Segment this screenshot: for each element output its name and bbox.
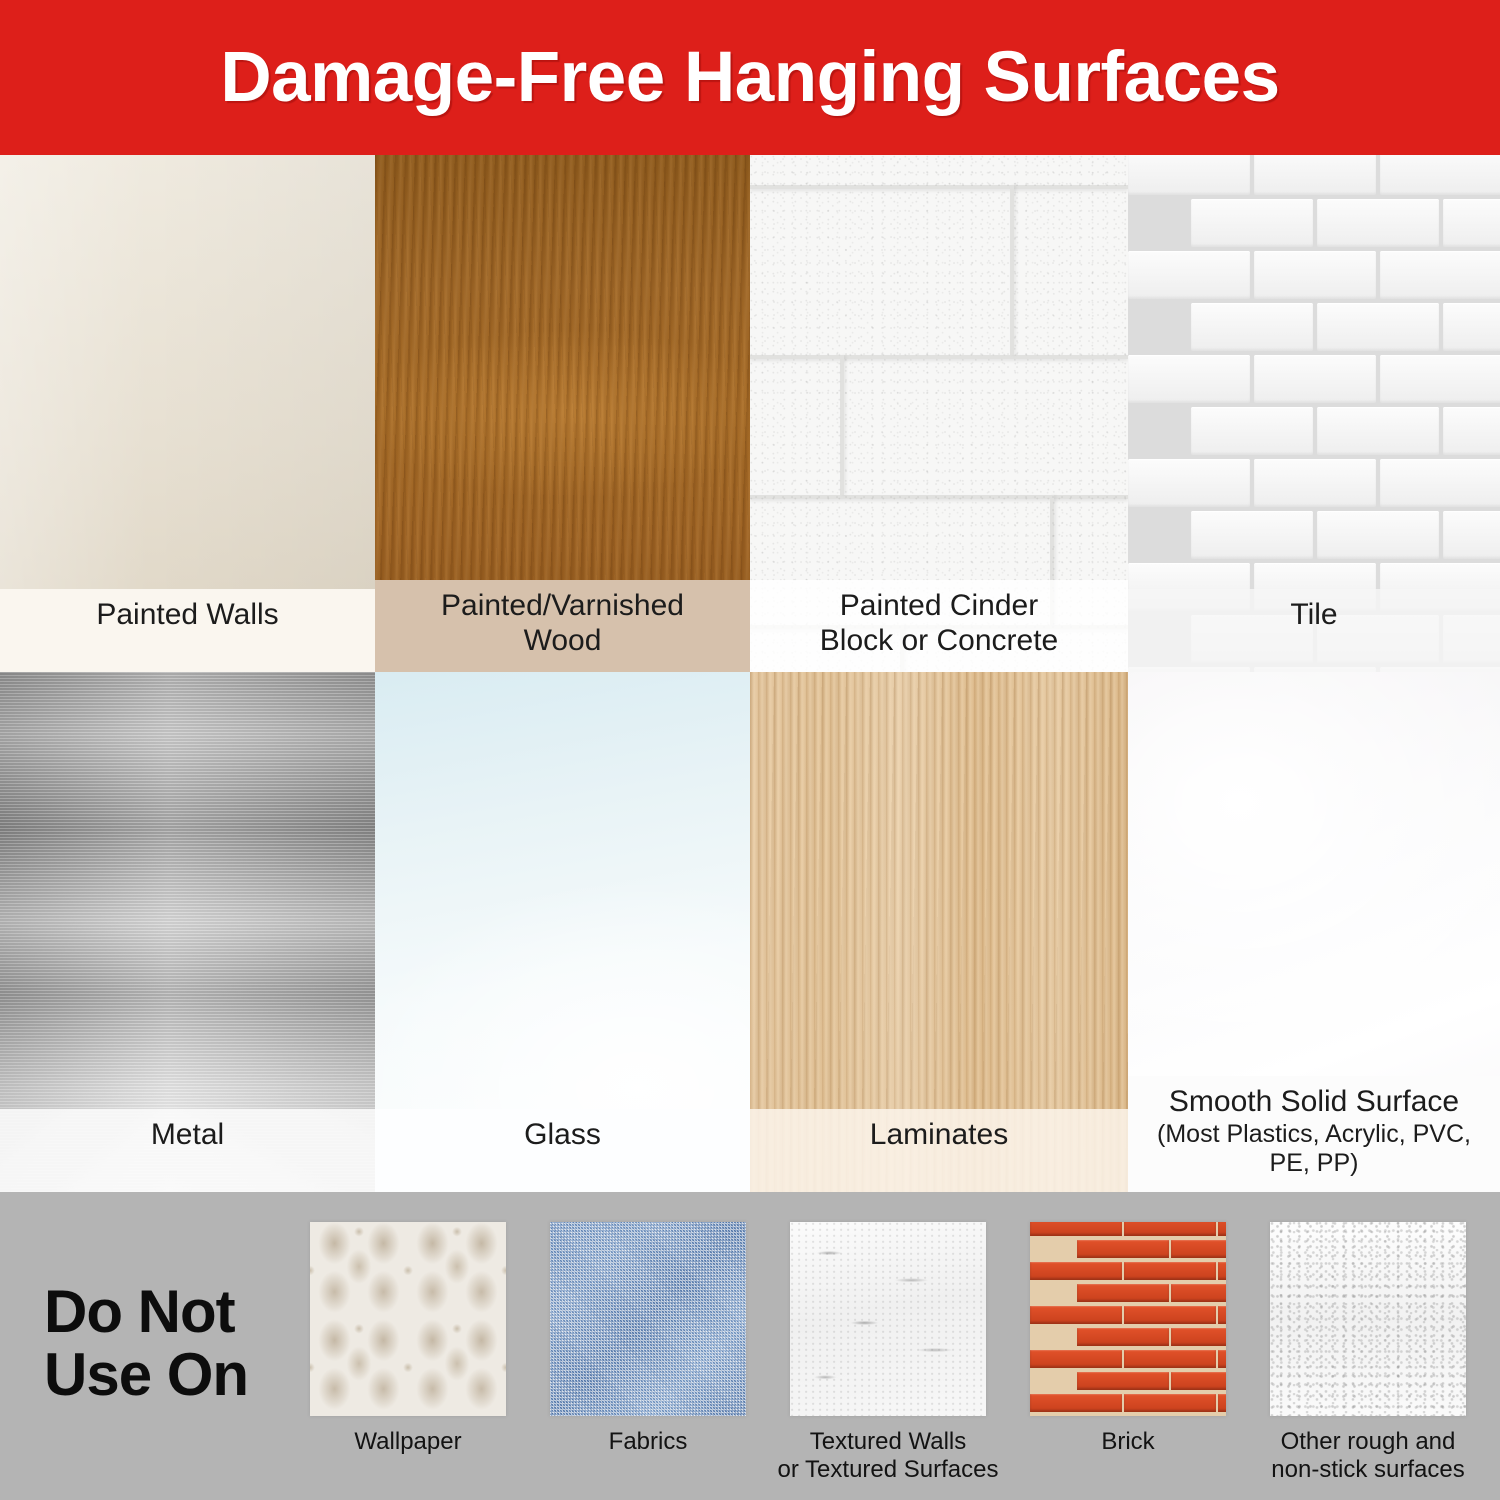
do-not-use-label-subtext: or Textured Surfaces	[777, 1456, 998, 1483]
surface-label-text: Metal	[151, 1118, 224, 1151]
surface-label-subtext: Block or Concrete	[756, 623, 1122, 658]
do-not-use-label-wallpaper: Wallpaper	[288, 1428, 528, 1456]
do-not-use-label-text: Textured Walls	[810, 1428, 967, 1455]
surface-cell-varnished-wood: Painted/Varnished Wood	[375, 155, 750, 672]
surface-label-solid-surface: Smooth Solid Surface (Most Plastics, Acr…	[1128, 1076, 1500, 1192]
do-not-use-label-textured-walls: Textured Walls or Textured Surfaces	[768, 1428, 1008, 1485]
surface-cell-painted-walls: Painted Walls	[0, 155, 375, 672]
do-not-use-label-text: Fabrics	[609, 1428, 688, 1455]
do-not-use-item-rough-surfaces: Other rough and non-stick surfaces	[1248, 1222, 1488, 1492]
do-not-use-label-brick: Brick	[1008, 1428, 1248, 1456]
do-not-use-title-line1: Do Not	[44, 1280, 248, 1343]
rough-surface-thumb	[1270, 1222, 1466, 1416]
brick-thumb	[1030, 1222, 1226, 1416]
surface-label-subtext: Wood	[381, 623, 744, 658]
do-not-use-item-textured-walls: Textured Walls or Textured Surfaces	[768, 1222, 1008, 1492]
surface-cell-laminates: Laminates	[750, 672, 1128, 1192]
poster-root: Damage-Free Hanging Surfaces Painted Wal…	[0, 0, 1500, 1500]
wallpaper-thumb	[310, 1222, 506, 1416]
surface-label-text: Painted/Varnished	[441, 589, 684, 622]
surface-label-text: Laminates	[870, 1118, 1008, 1151]
surface-label-laminates: Laminates	[750, 1109, 1128, 1192]
surface-label-text: Painted Walls	[96, 598, 278, 631]
surface-label-text: Smooth Solid Surface	[1169, 1085, 1459, 1118]
do-not-use-label-fabrics: Fabrics	[528, 1428, 768, 1456]
surface-label-glass: Glass	[375, 1109, 750, 1192]
surface-label-cinder-block: Painted Cinder Block or Concrete	[750, 580, 1128, 672]
surface-cell-solid-surface: Smooth Solid Surface (Most Plastics, Acr…	[1128, 672, 1500, 1192]
approved-surfaces-grid: Painted Walls Painted/Varnished Wood	[0, 155, 1500, 1192]
do-not-use-items: Wallpaper Fabrics Textured Walls or Text…	[288, 1222, 1488, 1492]
surface-label-subtext: (Most Plastics, Acrylic, PVC, PE, PP)	[1134, 1120, 1494, 1179]
do-not-use-label-text: Brick	[1101, 1428, 1154, 1455]
surface-label-metal: Metal	[0, 1109, 375, 1192]
surface-label-text: Tile	[1290, 598, 1337, 631]
surface-label-text: Glass	[524, 1118, 601, 1151]
surface-label-varnished-wood: Painted/Varnished Wood	[375, 580, 750, 672]
do-not-use-label-subtext: non-stick surfaces	[1271, 1456, 1464, 1483]
surface-label-text: Painted Cinder	[840, 589, 1038, 622]
page-title: Damage-Free Hanging Surfaces	[220, 42, 1279, 113]
do-not-use-label-rough-surfaces: Other rough and non-stick surfaces	[1248, 1428, 1488, 1485]
surface-cell-cinder-block: Painted Cinder Block or Concrete	[750, 155, 1128, 672]
surface-label-painted-walls: Painted Walls	[0, 589, 375, 672]
do-not-use-label-text: Other rough and	[1281, 1428, 1456, 1455]
surface-label-tile: Tile	[1128, 589, 1500, 672]
do-not-use-item-wallpaper: Wallpaper	[288, 1222, 528, 1492]
surface-cell-metal: Metal	[0, 672, 375, 1192]
do-not-use-title-line2: Use On	[44, 1343, 248, 1406]
do-not-use-item-fabrics: Fabrics	[528, 1222, 768, 1492]
do-not-use-label-text: Wallpaper	[354, 1428, 461, 1455]
do-not-use-title: Do Not Use On	[44, 1280, 248, 1406]
fabric-thumb	[550, 1222, 746, 1416]
textured-wall-thumb	[790, 1222, 986, 1416]
surface-cell-glass: Glass	[375, 672, 750, 1192]
surface-cell-tile: Tile	[1128, 155, 1500, 672]
do-not-use-item-brick: Brick	[1008, 1222, 1248, 1492]
header-banner: Damage-Free Hanging Surfaces	[0, 0, 1500, 155]
